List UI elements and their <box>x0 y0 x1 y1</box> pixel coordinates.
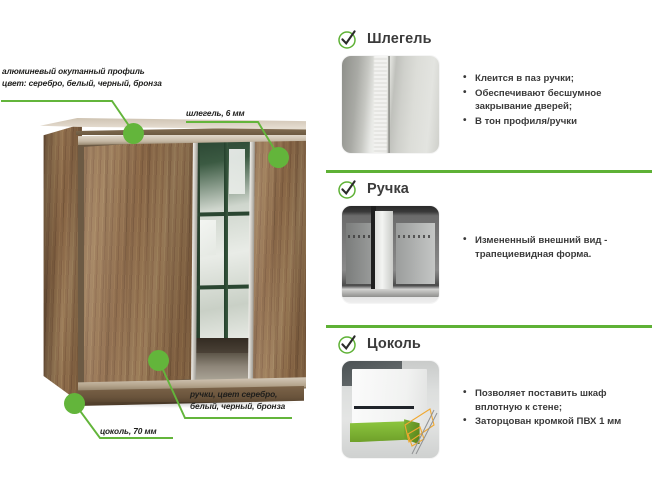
features-panel: Шлегель Клеится в паз ручки; Обеспечиваю… <box>326 0 652 500</box>
callout-label-plinth: цоколь, 70 мм <box>100 426 220 438</box>
feature-block-ruchka: Ручка Измененный внешний вид - трапециев… <box>326 178 652 303</box>
feature-header-ruchka: Ручка <box>326 178 652 199</box>
profile-edge <box>388 56 391 153</box>
mirror-reflection-2 <box>200 220 216 255</box>
list-item: Позволяет поставить шкаф вплотную к стен… <box>463 387 652 414</box>
wardrobe-illustration-panel: алюминевый окутанный профиль цвет: сереб… <box>0 0 326 500</box>
panel-detail-right <box>398 235 433 238</box>
section-divider-2 <box>326 325 652 328</box>
brush-seal-strip <box>374 56 387 153</box>
bottom-rail <box>342 289 439 297</box>
callout-label-shlegel: шлегель, 6 мм <box>186 108 306 120</box>
handle-profile <box>375 211 393 291</box>
thumbnail-shlegel[interactable] <box>342 56 439 153</box>
wardrobe-mirror-door <box>194 134 256 386</box>
panel-detail-left <box>348 235 371 238</box>
feature-bullets-ruchka: Измененный внешний вид - трапециевидная … <box>463 206 652 262</box>
check-circle-icon <box>337 28 358 49</box>
check-circle-icon <box>337 178 358 199</box>
callout-dot-handles <box>148 350 169 371</box>
feature-title-shlegel: Шлегель <box>367 31 432 47</box>
feature-header-shlegel: Шлегель <box>326 28 652 49</box>
feature-body-tsokol: Позволяет поставить шкаф вплотную к стен… <box>326 361 652 458</box>
callout-label-profile: алюминевый окутанный профиль цвет: сереб… <box>2 66 202 89</box>
wardrobe-door-left <box>84 138 196 386</box>
wardrobe-3d-render <box>40 118 306 410</box>
callout-dot-plinth <box>64 393 85 414</box>
section-divider-1 <box>326 170 652 173</box>
feature-bullets-shlegel: Клеится в паз ручки; Обеспечивают бесшум… <box>463 56 652 129</box>
mirror-reflection-1 <box>229 149 245 194</box>
door-panel-right <box>396 223 435 283</box>
slide-canvas: алюминевый окутанный профиль цвет: сереб… <box>0 0 652 500</box>
callout-label-handles: ручки, цвет серебро, белый, черный, брон… <box>190 389 330 412</box>
check-circle-icon <box>337 333 358 354</box>
thumbnail-ruchka[interactable] <box>342 206 439 303</box>
list-item: В тон профиля/ручки <box>463 115 652 129</box>
door-panel-left <box>346 223 373 283</box>
annotation-overlay <box>342 361 439 458</box>
list-item: Клеится в паз ручки; <box>463 72 652 86</box>
callout-dot-shlegel <box>268 147 289 168</box>
wardrobe-door-right <box>253 132 306 384</box>
feature-bullets-tsokol: Позволяет поставить шкаф вплотную к стен… <box>463 361 652 430</box>
feature-title-ruchka: Ручка <box>367 181 409 197</box>
mirror-floor-shadow <box>194 338 256 353</box>
feature-block-tsokol: Цоколь <box>326 333 652 458</box>
feature-body-ruchka: Измененный внешний вид - трапециевидная … <box>326 206 652 303</box>
feature-header-tsokol: Цоколь <box>326 333 652 354</box>
list-item: Обеспечивают бесшумное закрывание дверей… <box>463 87 652 114</box>
callout-dot-profile <box>123 123 144 144</box>
feature-title-tsokol: Цоколь <box>367 336 421 352</box>
wardrobe-side-panel <box>42 124 82 404</box>
feature-block-shlegel: Шлегель Клеится в паз ручки; Обеспечиваю… <box>326 28 652 153</box>
thumbnail-tsokol[interactable] <box>342 361 439 458</box>
list-item: Измененный внешний вид - трапециевидная … <box>463 234 652 261</box>
feature-body-shlegel: Клеится в паз ручки; Обеспечивают бесшум… <box>326 56 652 153</box>
list-item: Заторцован кромкой ПВХ 1 мм <box>463 415 652 429</box>
